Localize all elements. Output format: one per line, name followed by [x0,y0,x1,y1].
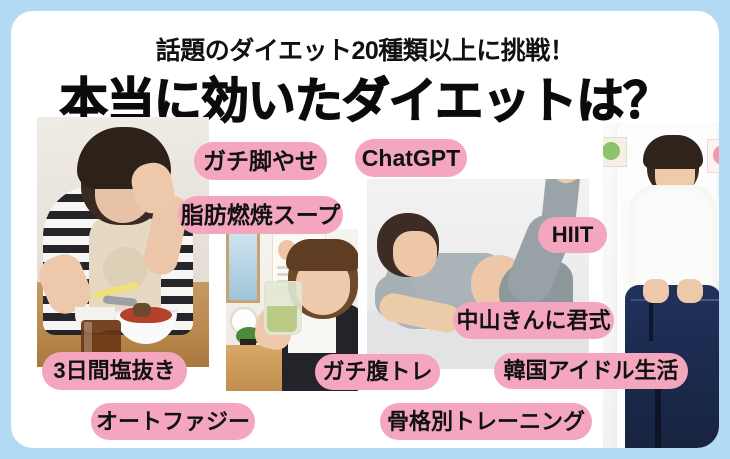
photo-meal [37,117,209,367]
badge-nakayama-kinniku[interactable]: 中山きんに君式 [453,302,614,339]
badge-3nichikan-shionuki[interactable]: 3日間塩抜き [42,352,187,390]
badge-gachi-ashiyase[interactable]: ガチ脚やせ [194,142,327,180]
window [226,229,260,303]
food-piece [133,303,151,317]
white-tshirt [629,185,717,291]
jeans-pocket-left [631,299,649,315]
green-smoothie-glass [264,281,302,335]
badge-gachi-haratore[interactable]: ガチ腹トレ [315,354,440,390]
photo-jeans [603,123,719,448]
thumbnail-graphic: 話題のダイエット20種類以上に挑戦！ 本当に効いたダイエットは？ [0,0,730,459]
photo-exercise [367,179,589,369]
hand-left [643,279,669,303]
wall-picture-left [603,137,627,167]
white-panel: 話題のダイエット20種類以上に挑戦！ 本当に効いたダイエットは？ [11,11,719,448]
wall-picture-right [707,139,719,173]
badge-autophagy[interactable]: オートファジー [91,403,255,440]
hair-bangs [286,239,358,271]
badge-shibou-nenshou[interactable]: 脂肪燃焼スープ [178,196,343,234]
badge-kankoku-idol[interactable]: 韓国アイドル生活 [494,353,688,389]
badge-kokkakubetsu-training[interactable]: 骨格別トレーニング [380,403,592,440]
hand-right [677,279,703,303]
face [393,231,437,277]
jeans-pocket-right [699,299,719,317]
badge-hiit[interactable]: HIIT [538,217,607,253]
hair [643,135,703,169]
badge-chatgpt[interactable]: ChatGPT [355,139,467,177]
